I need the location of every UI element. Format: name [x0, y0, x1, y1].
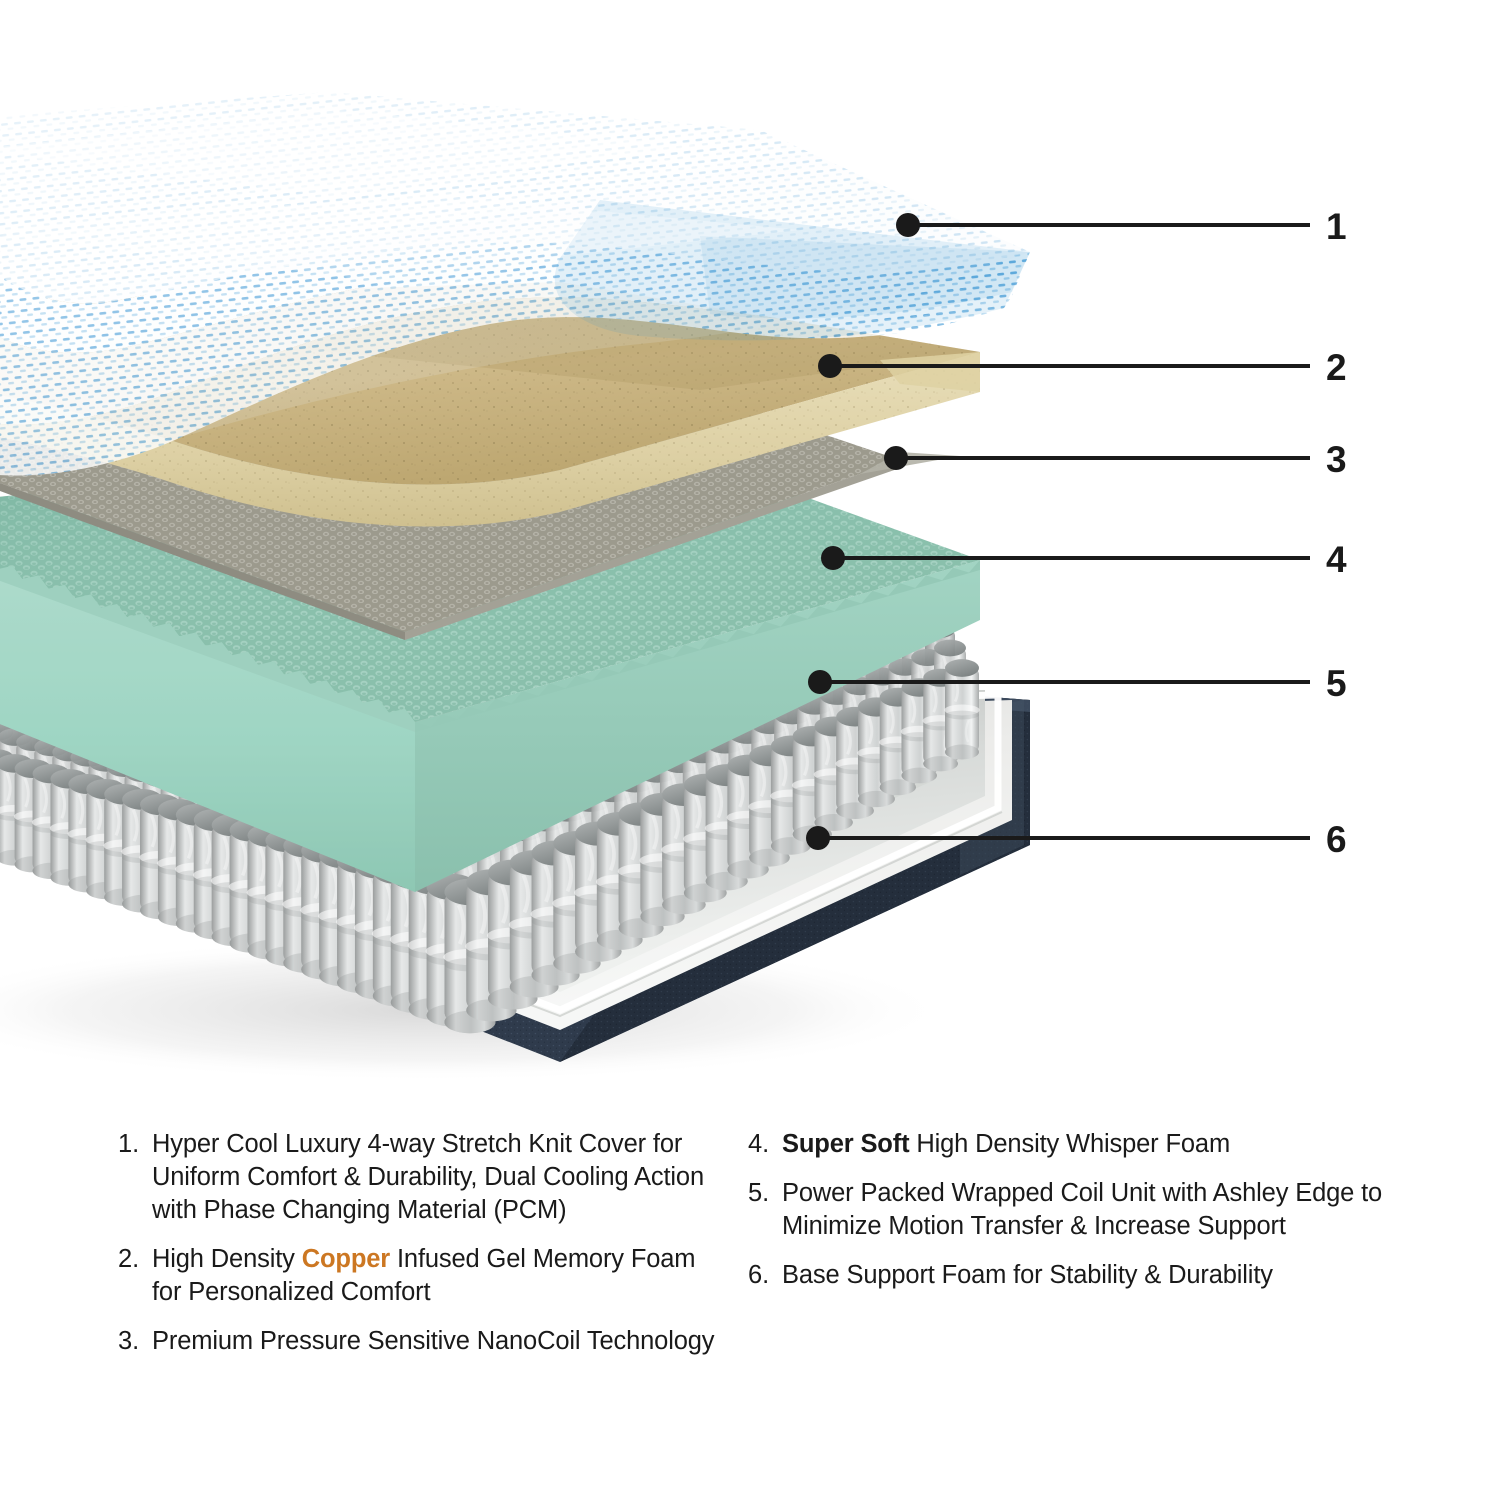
leader-dot-1 [896, 213, 920, 237]
legend-item-text: Power Packed Wrapped Coil Unit with Ashl… [782, 1177, 1388, 1243]
exploded-mattress-diagram [0, 0, 1500, 1110]
legend-item-4: 4.Super Soft High Density Whisper Foam [748, 1128, 1388, 1161]
leader-dot-6 [806, 826, 830, 850]
copper-highlight: Copper [302, 1245, 390, 1273]
leader-dot-5 [808, 670, 832, 694]
callout-number-1: 1 [1326, 208, 1347, 245]
legend-item-text: Hyper Cool Luxury 4-way Stretch Knit Cov… [152, 1128, 718, 1227]
legend-item-6: 6.Base Support Foam for Stability & Dura… [748, 1259, 1388, 1292]
callout-number-2: 2 [1326, 349, 1347, 386]
text-segment: Power Packed Wrapped Coil Unit with Ashl… [782, 1179, 1382, 1240]
text-segment: Premium Pressure Sensitive NanoCoil Tech… [152, 1327, 714, 1355]
legend-item-index: 6. [748, 1259, 782, 1292]
callout-number-3: 3 [1326, 441, 1347, 478]
legend-item-index: 5. [748, 1177, 782, 1210]
legend-item-text: Premium Pressure Sensitive NanoCoil Tech… [152, 1325, 718, 1358]
legend-item-index: 4. [748, 1128, 782, 1161]
callout-number-6: 6 [1326, 821, 1347, 858]
leader-dot-2 [818, 354, 842, 378]
legend-item-text: High Density Copper Infused Gel Memory F… [152, 1243, 718, 1309]
legend-item-index: 2. [118, 1243, 152, 1276]
legend-column-left: 1.Hyper Cool Luxury 4-way Stretch Knit C… [118, 1128, 718, 1374]
legend-item-5: 5.Power Packed Wrapped Coil Unit with As… [748, 1177, 1388, 1243]
layer-legend: 1.Hyper Cool Luxury 4-way Stretch Knit C… [0, 1128, 1500, 1500]
legend-item-text: Base Support Foam for Stability & Durabi… [782, 1259, 1388, 1292]
callout-number-4: 4 [1326, 541, 1347, 578]
mattress-layers-infographic: 123456 1.Hyper Cool Luxury 4-way Stretch… [0, 0, 1500, 1500]
legend-item-index: 1. [118, 1128, 152, 1161]
legend-item-2: 2.High Density Copper Infused Gel Memory… [118, 1243, 718, 1309]
text-segment: Hyper Cool Luxury 4-way Stretch Knit Cov… [152, 1130, 704, 1224]
legend-item-text: Super Soft High Density Whisper Foam [782, 1128, 1388, 1161]
legend-column-right: 4.Super Soft High Density Whisper Foam5.… [748, 1128, 1388, 1308]
bold-highlight: Super Soft [782, 1130, 909, 1158]
text-segment: High Density [152, 1245, 302, 1273]
legend-item-index: 3. [118, 1325, 152, 1358]
legend-item-3: 3.Premium Pressure Sensitive NanoCoil Te… [118, 1325, 718, 1358]
leader-dot-4 [821, 546, 845, 570]
legend-item-1: 1.Hyper Cool Luxury 4-way Stretch Knit C… [118, 1128, 718, 1227]
callout-number-5: 5 [1326, 665, 1347, 702]
leader-dot-3 [884, 446, 908, 470]
text-segment: High Density Whisper Foam [909, 1130, 1230, 1158]
text-segment: Base Support Foam for Stability & Durabi… [782, 1261, 1273, 1289]
